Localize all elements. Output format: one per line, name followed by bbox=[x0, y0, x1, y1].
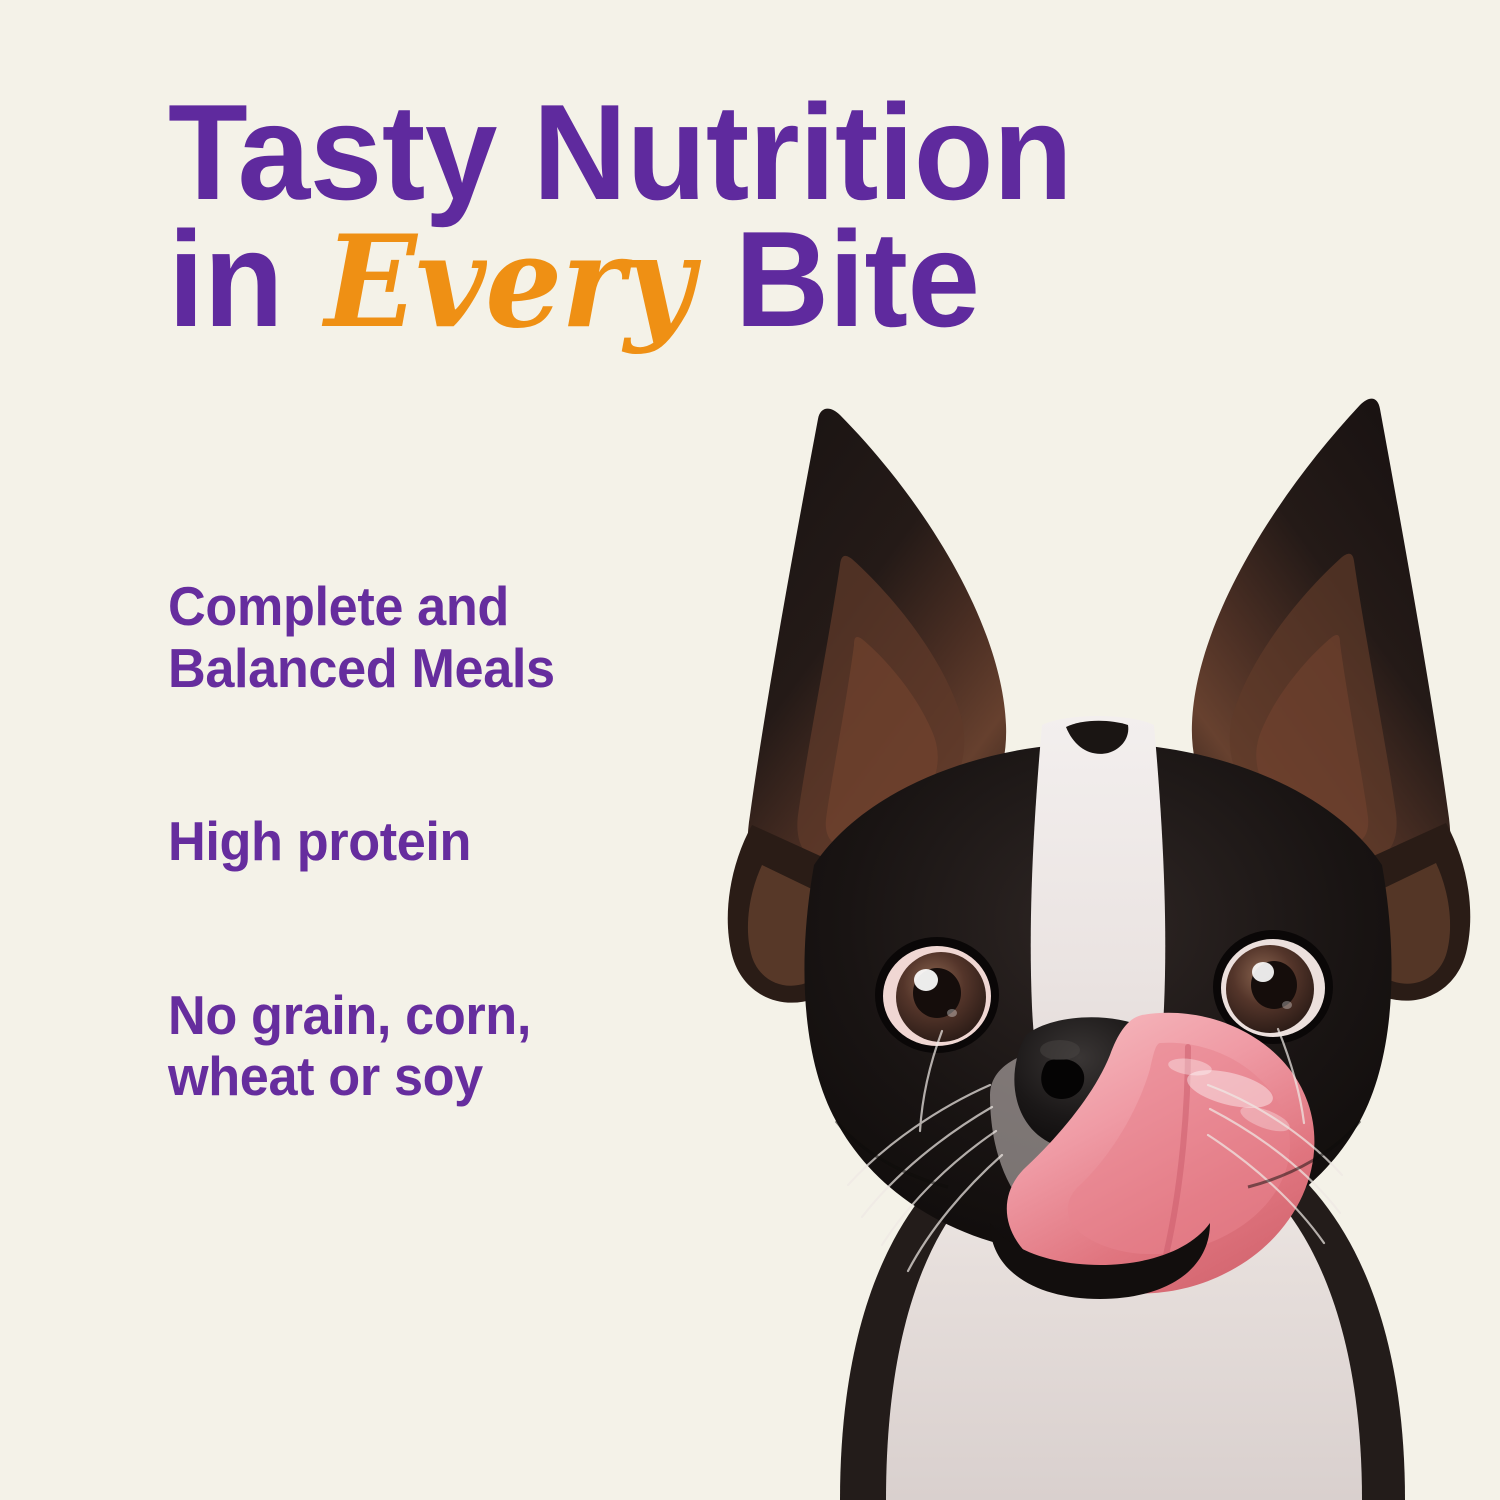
headline: Tasty Nutrition in Every Bite bbox=[168, 86, 1348, 347]
dog-eye-left bbox=[875, 937, 999, 1053]
feature-1-line-2: Balanced Meals bbox=[168, 638, 700, 700]
headline-line-2: in Every Bite bbox=[168, 213, 1301, 346]
feature-list: Complete and Balanced Meals High protein… bbox=[168, 576, 728, 1108]
headline-emphasis-every: Every bbox=[319, 208, 699, 356]
feature-1-line-1: Complete and bbox=[168, 576, 700, 638]
dog-photo bbox=[690, 395, 1500, 1500]
headline-prefix: in bbox=[168, 203, 319, 355]
headline-line-1: Tasty Nutrition bbox=[168, 86, 1301, 219]
feature-3-line-1: No grain, corn, bbox=[168, 985, 700, 1047]
headline-suffix: Bite bbox=[699, 203, 980, 355]
feature-2-line-1: High protein bbox=[168, 811, 700, 873]
feature-3-line-2: wheat or soy bbox=[168, 1046, 700, 1108]
feature-item-complete-balanced: Complete and Balanced Meals bbox=[168, 576, 700, 699]
feature-item-high-protein: High protein bbox=[168, 811, 700, 873]
product-benefit-banner: Tasty Nutrition in Every Bite Complete a… bbox=[0, 0, 1500, 1500]
feature-item-no-grain-corn-wheat-soy: No grain, corn, wheat or soy bbox=[168, 985, 700, 1108]
dog-illustration bbox=[690, 395, 1500, 1500]
